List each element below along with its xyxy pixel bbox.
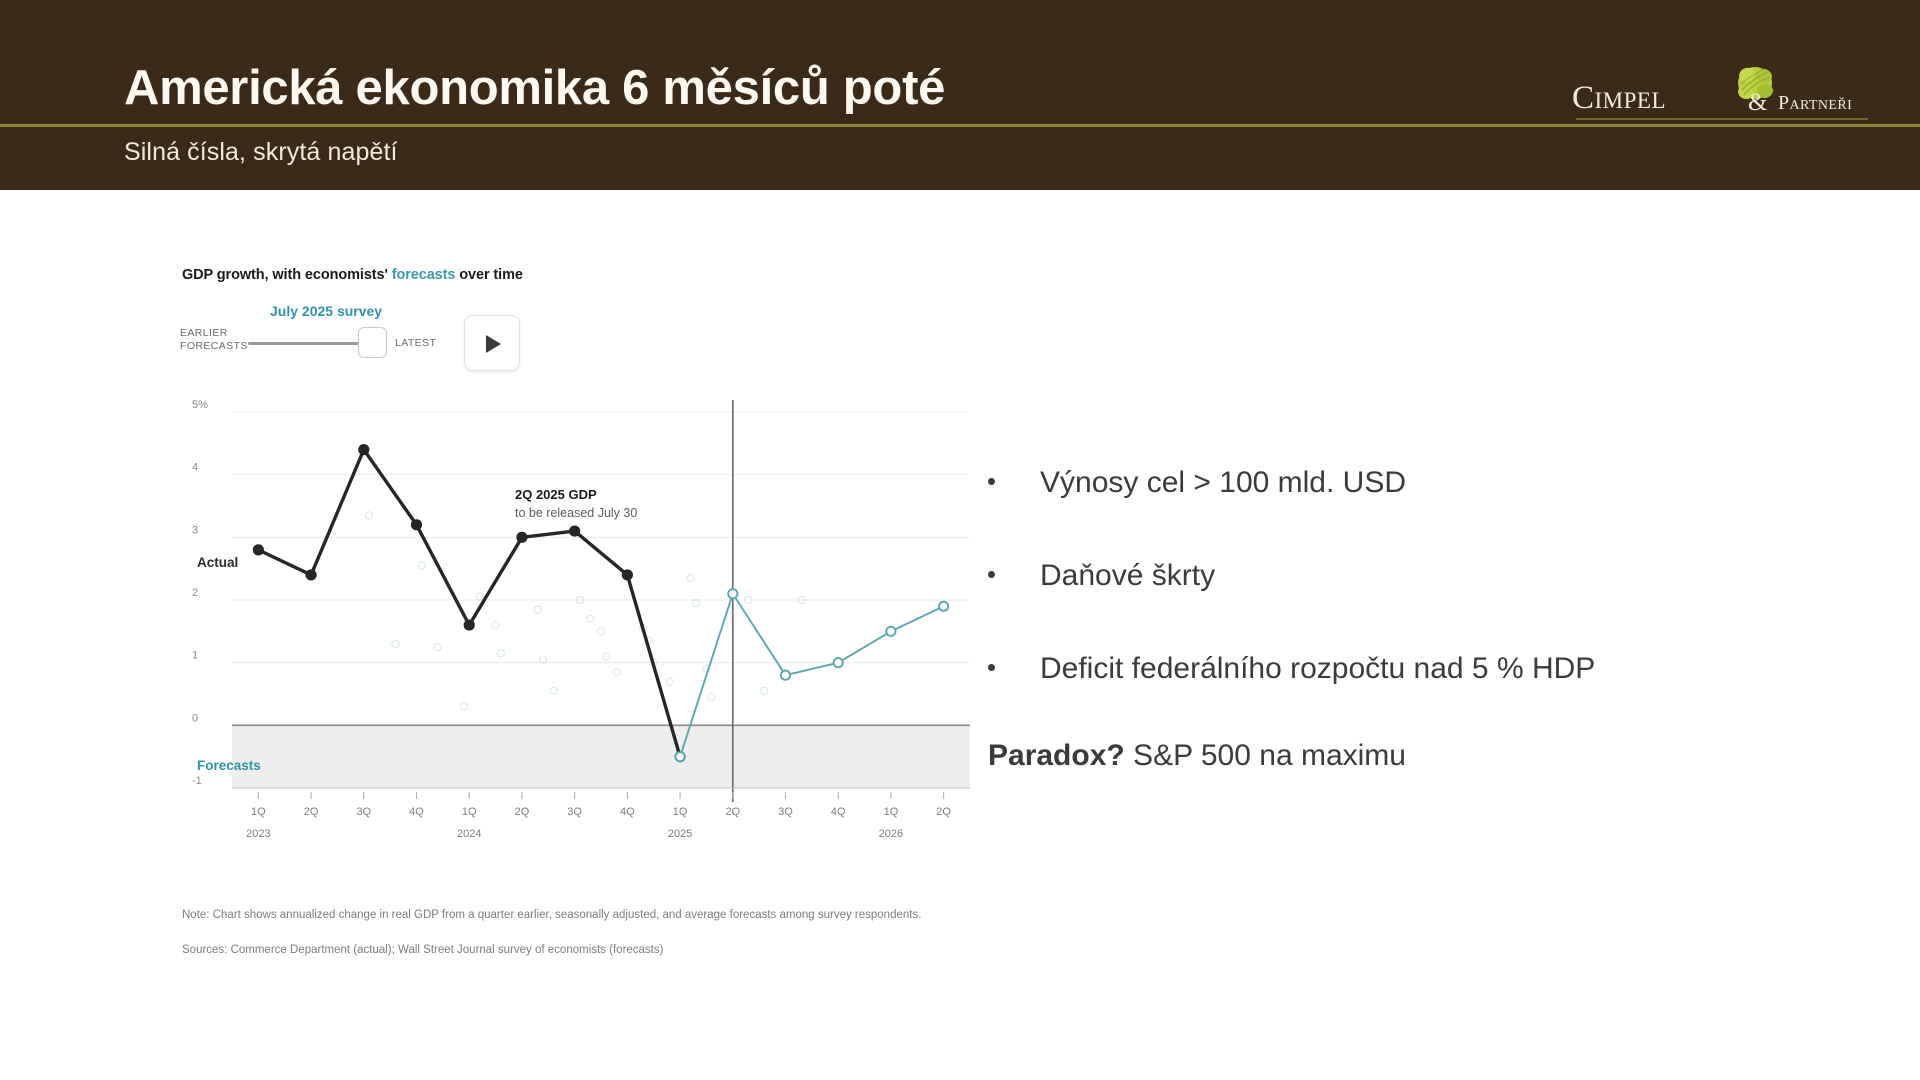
survey-slider-track[interactable] (248, 342, 366, 345)
ghost-forecast-marker (476, 593, 483, 600)
x-year-label: 2024 (457, 828, 481, 840)
x-tick-label: 1Q (462, 806, 477, 818)
series-label-actual: Actual (197, 555, 238, 570)
x-tick-label: 4Q (831, 806, 846, 818)
ghost-forecast-marker (587, 615, 594, 622)
ghost-forecast-marker (613, 668, 620, 675)
bullet-text: Deficit federálního rozpočtu nad 5 % HDP (1040, 651, 1858, 687)
x-tick-label: 1Q (251, 806, 266, 818)
play-button[interactable] (464, 315, 520, 371)
bullet-list: Výnosy cel > 100 mld. USD Daňové škrty D… (988, 465, 1858, 774)
data-point-actual (358, 444, 369, 455)
list-item: Deficit federálního rozpočtu nad 5 % HDP (988, 651, 1858, 687)
page-title: Americká ekonomika 6 měsíců poté (124, 60, 945, 116)
gdp-chart-panel: GDP growth, with economists' forecasts o… (180, 255, 980, 975)
chart-sources: Sources: Commerce Department (actual); W… (182, 943, 972, 959)
ghost-forecast-marker (539, 656, 546, 663)
bullet-text: Daňové škrty (1040, 558, 1858, 594)
ghost-forecast-marker (708, 694, 715, 701)
data-point-actual (253, 544, 264, 555)
data-point-actual (622, 569, 633, 580)
survey-date-label: July 2025 survey (270, 303, 382, 319)
x-year-label: 2026 (879, 828, 903, 840)
y-tick-label: 4 (192, 462, 198, 474)
ghost-forecast-marker (434, 643, 441, 650)
chart-title-forecasts: forecasts (392, 267, 456, 283)
x-tick-label: 1Q (673, 806, 688, 818)
chart-title-pre: GDP growth, with economists' (182, 267, 392, 283)
play-icon (486, 335, 501, 353)
chart-svg: 5%43210-11Q2Q3Q4Q1Q2Q3Q4Q1Q2Q3Q4Q1Q2Q202… (180, 390, 980, 865)
ghost-forecast-marker (603, 653, 610, 660)
logo-underline (1576, 118, 1868, 120)
header-band: Americká ekonomika 6 měsíců poté Silná č… (0, 0, 1920, 190)
chart-footnote: Note: Chart shows annualized change in r… (182, 908, 972, 924)
data-point-forecast (728, 589, 737, 598)
x-year-label: 2025 (668, 828, 692, 840)
logo-ampersand: & (1748, 89, 1767, 117)
logo-partners: Partneři (1778, 92, 1852, 115)
y-tick-label: -1 (192, 775, 202, 787)
bullet-dot-icon (988, 571, 995, 578)
ghost-forecast-marker (497, 650, 504, 657)
ghost-forecast-marker (392, 640, 399, 647)
company-logo: Cimpel & Partneři (1572, 62, 1872, 126)
x-tick-label: 3Q (356, 806, 371, 818)
data-point-actual (516, 532, 527, 543)
data-point-actual (411, 519, 422, 530)
survey-slider-thumb[interactable] (358, 327, 387, 358)
slider-earlier-label: EARLIER FORECASTS (180, 327, 248, 353)
y-tick-label: 5% (192, 399, 208, 411)
series-line-actual (258, 450, 680, 757)
series-label-forecasts: Forecasts (197, 758, 261, 773)
negative-region (232, 725, 970, 788)
y-tick-label: 1 (192, 650, 198, 662)
ghost-forecast-marker (761, 687, 768, 694)
paradox-statement: Paradox? S&P 500 na maximu (988, 738, 1858, 774)
x-tick-label: 2Q (936, 806, 951, 818)
x-tick-label: 3Q (778, 806, 793, 818)
ghost-forecast-marker (418, 562, 425, 569)
data-point-actual (464, 619, 475, 630)
x-tick-label: 1Q (884, 806, 899, 818)
ghost-forecast-marker (692, 600, 699, 607)
paradox-rest: S&P 500 na maximu (1125, 739, 1406, 772)
x-tick-label: 4Q (409, 806, 424, 818)
list-item: Daňové škrty (988, 558, 1858, 594)
ghost-forecast-marker (666, 678, 673, 685)
x-tick-label: 2Q (304, 806, 319, 818)
gdp-release-annotation-title: 2Q 2025 GDP (515, 487, 597, 502)
y-tick-label: 0 (192, 712, 198, 724)
data-point-actual (569, 525, 580, 536)
ghost-forecast-marker (492, 621, 499, 628)
ghost-forecast-marker (687, 574, 694, 581)
slider-earlier-line1: EARLIER (180, 327, 228, 339)
chart-title-post: over time (455, 267, 523, 283)
chart-plot-area: 5%43210-11Q2Q3Q4Q1Q2Q3Q4Q1Q2Q3Q4Q1Q2Q202… (180, 390, 980, 865)
x-tick-label: 2Q (515, 806, 530, 818)
page-subtitle: Silná čísla, skrytá napětí (124, 138, 398, 167)
data-point-forecast (781, 671, 790, 680)
logo-name: Cimpel (1572, 80, 1666, 117)
x-tick-label: 3Q (567, 806, 582, 818)
bullet-text: Výnosy cel > 100 mld. USD (1040, 465, 1858, 501)
data-point-actual (305, 569, 316, 580)
slider-earlier-line2: FORECASTS (180, 340, 248, 352)
x-tick-label: 2Q (725, 806, 740, 818)
ghost-forecast-marker (460, 703, 467, 710)
ghost-forecast-marker (365, 512, 372, 519)
y-tick-label: 3 (192, 524, 198, 536)
data-point-forecast (675, 752, 684, 761)
data-point-forecast (834, 658, 843, 667)
ghost-forecast-marker (534, 606, 541, 613)
x-year-label: 2023 (246, 828, 270, 840)
x-tick-label: 4Q (620, 806, 635, 818)
chart-title: GDP growth, with economists' forecasts o… (182, 267, 523, 283)
slider-latest-label: LATEST (395, 337, 436, 349)
ghost-forecast-marker (550, 687, 557, 694)
data-point-forecast (886, 627, 895, 636)
paradox-label: Paradox? (988, 739, 1125, 772)
bullet-dot-icon (988, 478, 995, 485)
ghost-forecast-marker (597, 628, 604, 635)
y-tick-label: 2 (192, 587, 198, 599)
gdp-release-annotation-sub: to be released July 30 (515, 506, 637, 520)
bullet-dot-icon (988, 664, 995, 671)
data-point-forecast (939, 602, 948, 611)
list-item: Výnosy cel > 100 mld. USD (988, 465, 1858, 501)
